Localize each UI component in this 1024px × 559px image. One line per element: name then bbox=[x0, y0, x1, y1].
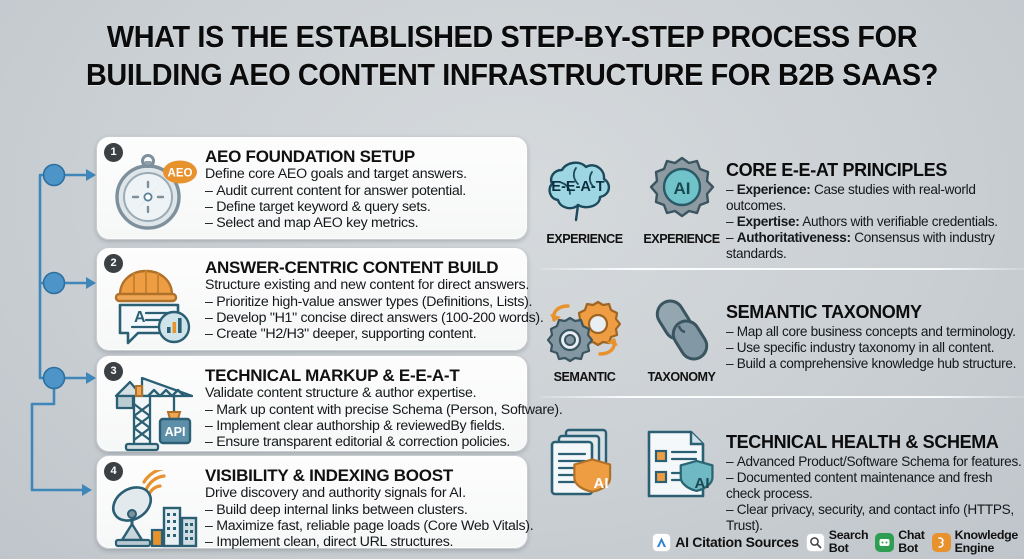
section-icon-group: AI AI bbox=[540, 422, 726, 533]
satellite-dish-city-icon bbox=[105, 469, 203, 555]
legend-line-2: Engine bbox=[955, 542, 1018, 555]
bullet-text: Build a comprehensive knowledge hub stru… bbox=[737, 356, 1016, 371]
flow-connector-diagram bbox=[14, 128, 104, 543]
icon-cell: SEMANTIC bbox=[540, 296, 629, 384]
crane-icon: API bbox=[105, 369, 203, 455]
right-section-core-eeat: E-E-A-T EXPERIENCE AI EXPERIENCE CORE E-… bbox=[540, 150, 1024, 261]
bullet-text: Documented content maintenance and fresh… bbox=[726, 470, 992, 501]
right-section-technical-health: AI AI TECHNICAL HEALTH & SCHEMA – Advanc… bbox=[540, 422, 1024, 533]
ai-citation-logo-icon bbox=[652, 533, 671, 552]
section-bullet: – Authoritativeness: Consensus with indu… bbox=[726, 230, 1024, 262]
step-number-badge: 2 bbox=[104, 254, 123, 273]
section-text: CORE E-E-AT PRINCIPLES – Experience: Cas… bbox=[726, 150, 1024, 261]
knowledge-engine-icon bbox=[932, 533, 951, 552]
step-bullet: Implement clean, direct URL structures. bbox=[205, 534, 533, 550]
bullet-label: Authoritativeness: bbox=[737, 230, 851, 245]
legend-main-label: AI Citation Sources bbox=[675, 534, 798, 550]
section-text: SEMANTIC TAXONOMY – Map all core busines… bbox=[726, 292, 1024, 384]
step-bullet: Select and map AEO key metrics. bbox=[205, 215, 518, 231]
icon-caption: EXPERIENCE bbox=[540, 232, 629, 246]
step-bullet: Mark up content with precise Schema (Per… bbox=[205, 402, 562, 418]
step-lead: Validate content structure & author expe… bbox=[205, 386, 562, 402]
compass-icon: AEO bbox=[105, 150, 203, 236]
section-bullet-list: – Advanced Product/Software Schema for f… bbox=[726, 454, 1024, 533]
section-text: TECHNICAL HEALTH & SCHEMA – Advanced Pro… bbox=[726, 422, 1024, 533]
brain-eeat-icon: E-E-A-T bbox=[542, 154, 628, 226]
legend-item-label: KnowledgeEngine bbox=[955, 529, 1018, 555]
step-bullet: Prioritize high-value answer types (Defi… bbox=[205, 294, 543, 310]
legend-item-knowledge-engine[interactable]: KnowledgeEngine bbox=[932, 529, 1018, 555]
compass-badge-label: AEO bbox=[168, 168, 193, 180]
bullet-text: Authors with verifiable credentials. bbox=[802, 214, 997, 229]
section-bullet: – Map all core business concepts and ter… bbox=[726, 324, 1024, 340]
right-section-semantic-taxonomy: SEMANTIC TAXONOMY SEMANTIC TAXONOMY – Ma… bbox=[540, 292, 1024, 384]
document-ai-shield-teal-icon: AI bbox=[639, 426, 725, 504]
gear-ai-icon: AI bbox=[639, 154, 725, 226]
gears-cycle-icon bbox=[542, 296, 628, 364]
hardhat-speech-bubble-icon: A bbox=[105, 261, 203, 347]
step-number-badge: 1 bbox=[104, 143, 123, 162]
step-number-badge: 3 bbox=[104, 362, 123, 381]
shield-label: AI bbox=[694, 475, 709, 492]
crane-container-label: API bbox=[165, 425, 186, 439]
section-bullet: – Experience: Case studies with real-wor… bbox=[726, 182, 1024, 214]
icon-caption: SEMANTIC bbox=[540, 370, 629, 384]
step-title: AEO FOUNDATION SETUP bbox=[205, 148, 518, 166]
step-lead: Drive discovery and authority signals fo… bbox=[205, 486, 533, 502]
bullet-text: Use specific industry taxonomy in all co… bbox=[737, 340, 994, 355]
step-bullet: Develop "H1" concise direct answers (100… bbox=[205, 310, 543, 326]
step-bullet: Implement clear authorship & reviewedBy … bbox=[205, 418, 562, 434]
brain-inner-label: E-E-A-T bbox=[551, 179, 604, 195]
icon-cell: TAXONOMY bbox=[637, 296, 726, 384]
section-bullet-list: – Map all core business concepts and ter… bbox=[726, 324, 1024, 372]
icon-cell: E-E-A-T EXPERIENCE bbox=[540, 154, 629, 246]
icon-cell: AI bbox=[637, 426, 726, 509]
bullet-label: Expertise: bbox=[737, 214, 800, 229]
step-title: VISIBILITY & INDEXING BOOST bbox=[205, 467, 533, 485]
step-bullet: Maximize fast, reliable page loads (Core… bbox=[205, 518, 533, 534]
section-icon-group: SEMANTIC TAXONOMY bbox=[540, 292, 726, 384]
step-bullet: Define target keyword & query sets. bbox=[205, 199, 518, 215]
legend-line-2: Bot bbox=[898, 542, 924, 555]
section-title: SEMANTIC TAXONOMY bbox=[726, 302, 1024, 323]
chat-bot-icon bbox=[875, 533, 894, 552]
title-line-2: BUILDING AEO CONTENT INFRASTRUCTURE FOR … bbox=[36, 56, 988, 94]
section-icon-group: E-E-A-T EXPERIENCE AI EXPERIENCE bbox=[540, 150, 726, 261]
section-bullet: – Documented content maintenance and fre… bbox=[726, 470, 1024, 502]
step-bullet-list: Build deep internal links between cluste… bbox=[205, 502, 533, 550]
step-bullet-list: Mark up content with precise Schema (Per… bbox=[205, 402, 562, 450]
ai-citation-sources-legend: AI Citation Sources SearchBot ChatBot Kn… bbox=[652, 529, 1018, 555]
section-bullet: – Advanced Product/Software Schema for f… bbox=[726, 454, 1024, 470]
legend-item-label: SearchBot bbox=[829, 529, 869, 555]
step-card-2[interactable]: 2 A ANSWER-CENTRIC CONTENT BUILD Structu… bbox=[96, 247, 528, 351]
section-title: CORE E-E-AT PRINCIPLES bbox=[726, 160, 1024, 181]
step-lead: Define core AEO goals and target answers… bbox=[205, 167, 518, 183]
step-title: TECHNICAL MARKUP & E-E-A-T bbox=[205, 367, 562, 385]
title-line-1: WHAT IS THE ESTABLISHED STEP-BY-STEP PRO… bbox=[107, 19, 917, 54]
step-card-3[interactable]: 3 API TECHNICAL MARKUP & E-E-A-T Validat… bbox=[96, 355, 528, 452]
section-bullet: – Build a comprehensive knowledge hub st… bbox=[726, 356, 1024, 372]
step-number-badge: 4 bbox=[104, 462, 123, 481]
section-title: TECHNICAL HEALTH & SCHEMA bbox=[726, 432, 1024, 453]
step-bullet: Create "H2/H3" deeper, supporting conten… bbox=[205, 326, 543, 342]
legend-item-chat-bot[interactable]: ChatBot bbox=[875, 529, 924, 555]
section-divider bbox=[540, 396, 1024, 398]
section-bullet: – Use specific industry taxonomy in all … bbox=[726, 340, 1024, 356]
step-title: ANSWER-CENTRIC CONTENT BUILD bbox=[205, 259, 543, 277]
legend-line-2: Bot bbox=[829, 542, 869, 555]
legend-item-search-bot[interactable]: SearchBot bbox=[806, 529, 869, 555]
step-bullet-list: Audit current content for answer potenti… bbox=[205, 183, 518, 231]
section-bullet: – Expertise: Authors with verifiable cre… bbox=[726, 214, 1024, 230]
step-card-1[interactable]: 1 AEO AEO FOUNDATION SETUP Define core A… bbox=[96, 136, 528, 240]
flow-arrowheads bbox=[82, 169, 96, 496]
step-bullet-list: Prioritize high-value answer types (Defi… bbox=[205, 294, 543, 342]
bubble-letter: A bbox=[134, 309, 146, 326]
bullet-text: Advanced Product/Software Schema for fea… bbox=[737, 454, 1022, 469]
documents-ai-shield-orange-icon: AI bbox=[542, 426, 628, 504]
page-title: WHAT IS THE ESTABLISHED STEP-BY-STEP PRO… bbox=[36, 18, 988, 94]
bullet-label: Experience: bbox=[737, 182, 811, 197]
step-lead: Structure existing and new content for d… bbox=[205, 278, 543, 294]
chain-link-icon bbox=[639, 296, 725, 364]
legend-item-label: ChatBot bbox=[898, 529, 924, 555]
icon-caption: TAXONOMY bbox=[637, 370, 726, 384]
flow-nodes bbox=[44, 165, 65, 389]
shield-label: AI bbox=[593, 475, 608, 492]
legend-main: AI Citation Sources bbox=[652, 533, 798, 552]
gear-inner-label: AI bbox=[673, 179, 690, 198]
bullet-text: Map all core business concepts and termi… bbox=[737, 324, 1016, 339]
step-bullet: Audit current content for answer potenti… bbox=[205, 183, 518, 199]
step-bullet: Build deep internal links between cluste… bbox=[205, 502, 533, 518]
step-card-4[interactable]: 4 V bbox=[96, 455, 528, 549]
section-bullet-list: – Experience: Case studies with real-wor… bbox=[726, 182, 1024, 261]
section-divider bbox=[540, 268, 1024, 270]
icon-cell: AI bbox=[540, 426, 629, 509]
search-bot-icon bbox=[806, 533, 825, 552]
icon-caption: EXPERIENCE bbox=[637, 232, 726, 246]
icon-cell: AI EXPERIENCE bbox=[637, 154, 726, 246]
flow-connector-svg bbox=[14, 128, 104, 543]
step-bullet: Ensure transparent editorial & correctio… bbox=[205, 434, 562, 450]
